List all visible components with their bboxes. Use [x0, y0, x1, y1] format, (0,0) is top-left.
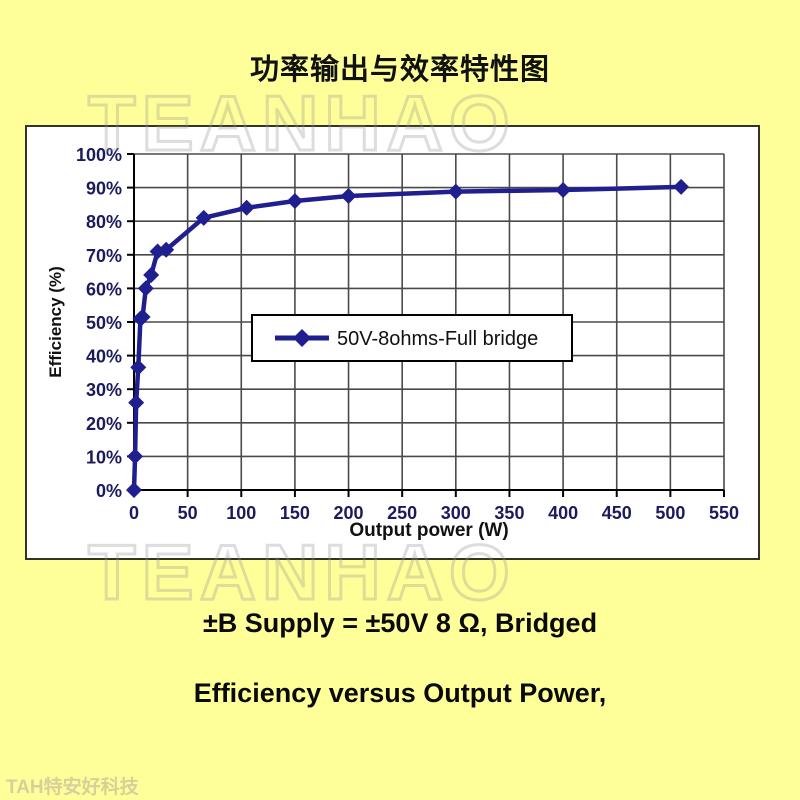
caption-supply-line: ±B Supply = ±50V 8 Ω, Bridged — [0, 608, 800, 639]
y-tick-label: 90% — [86, 179, 122, 199]
x-tick-label: 400 — [548, 503, 578, 523]
x-tick-label: 0 — [129, 503, 139, 523]
x-axis-title: Output power (W) — [349, 520, 508, 541]
y-tick-label: 80% — [86, 212, 122, 232]
chart-legend[interactable]: 50V-8ohms-Full bridge — [252, 315, 572, 361]
x-tick-label: 150 — [280, 503, 310, 523]
y-tick-label: 0% — [96, 481, 122, 501]
y-tick-label: 30% — [86, 380, 122, 400]
y-tick-label: 50% — [86, 313, 122, 333]
efficiency-vs-power-chart: 0%10%20%30%40%50%60%70%80%90%100% 050100… — [27, 127, 758, 558]
page-title: 功率输出与效率特性图 — [0, 46, 800, 88]
y-tick-label: 60% — [86, 279, 122, 299]
y-axis-title: Efficiency (%) — [46, 266, 65, 377]
caption-efficiency-line: Efficiency versus Output Power, — [0, 678, 800, 709]
x-tick-label: 100 — [226, 503, 256, 523]
x-tick-label: 450 — [602, 503, 632, 523]
y-tick-label: 70% — [86, 246, 122, 266]
legend-label: 50V-8ohms-Full bridge — [337, 328, 538, 350]
y-tick-label: 10% — [86, 447, 122, 467]
y-tick-label: 100% — [76, 145, 122, 165]
x-tick-label: 50 — [178, 503, 198, 523]
chart-panel: 0%10%20%30%40%50%60%70%80%90%100% 050100… — [25, 125, 760, 560]
x-tick-label: 550 — [709, 503, 739, 523]
x-tick-label: 500 — [655, 503, 685, 523]
y-tick-label: 20% — [86, 414, 122, 434]
y-tick-label: 40% — [86, 347, 122, 367]
footer-watermark: TAH特安好科技 — [6, 772, 139, 799]
